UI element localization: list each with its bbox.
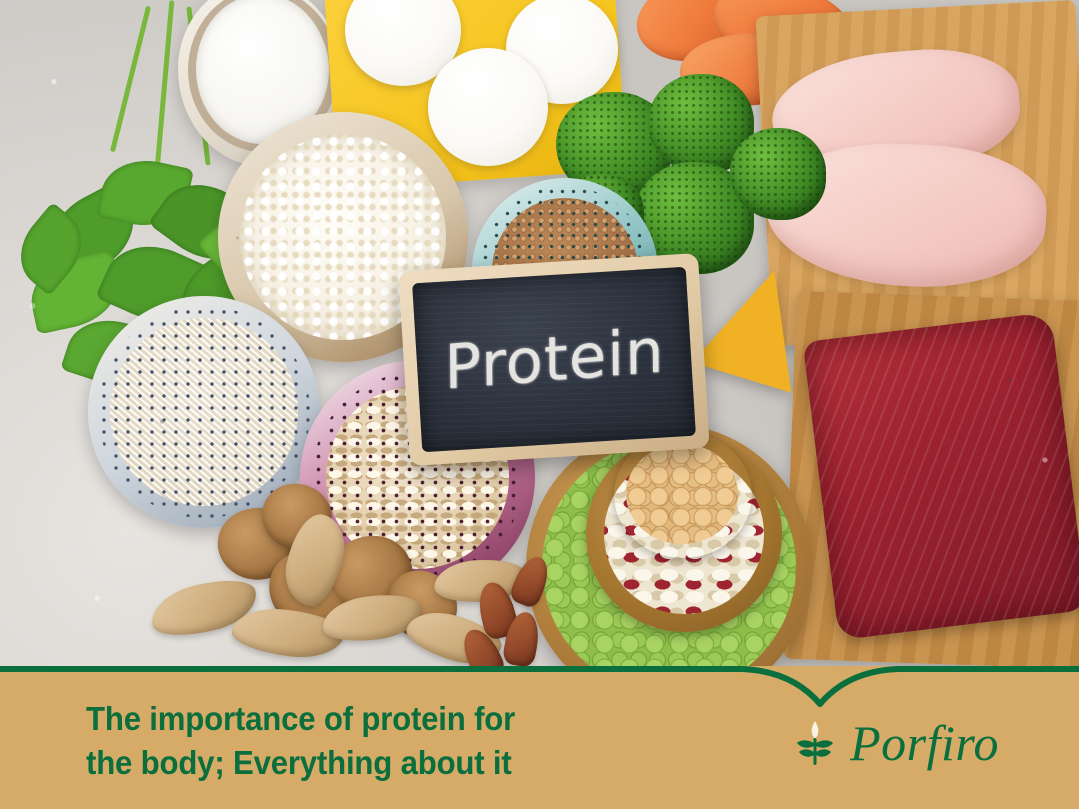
broccoli-floret: [730, 128, 826, 220]
cheese-wedge: [706, 268, 810, 380]
chalkboard-text: Protein: [444, 320, 665, 398]
chalkboard-slate: Protein: [412, 267, 696, 452]
screenshot-root: Protein The importance of protein for th…: [0, 0, 1079, 809]
page-title: The importance of protein for the body; …: [86, 698, 515, 785]
banner-content: The importance of protein for the body; …: [0, 668, 1079, 809]
brand-logo[interactable]: Porfiro: [792, 718, 999, 768]
beef-steak: [803, 312, 1079, 640]
food-photo: Protein: [0, 0, 1079, 680]
caption-banner: The importance of protein for the body; …: [0, 668, 1079, 809]
sprout-icon: [792, 719, 838, 767]
brand-name: Porfiro: [850, 718, 999, 768]
chalkboard-sign: Protein: [398, 253, 709, 466]
chickpeas: [626, 444, 738, 544]
egg: [428, 48, 548, 166]
